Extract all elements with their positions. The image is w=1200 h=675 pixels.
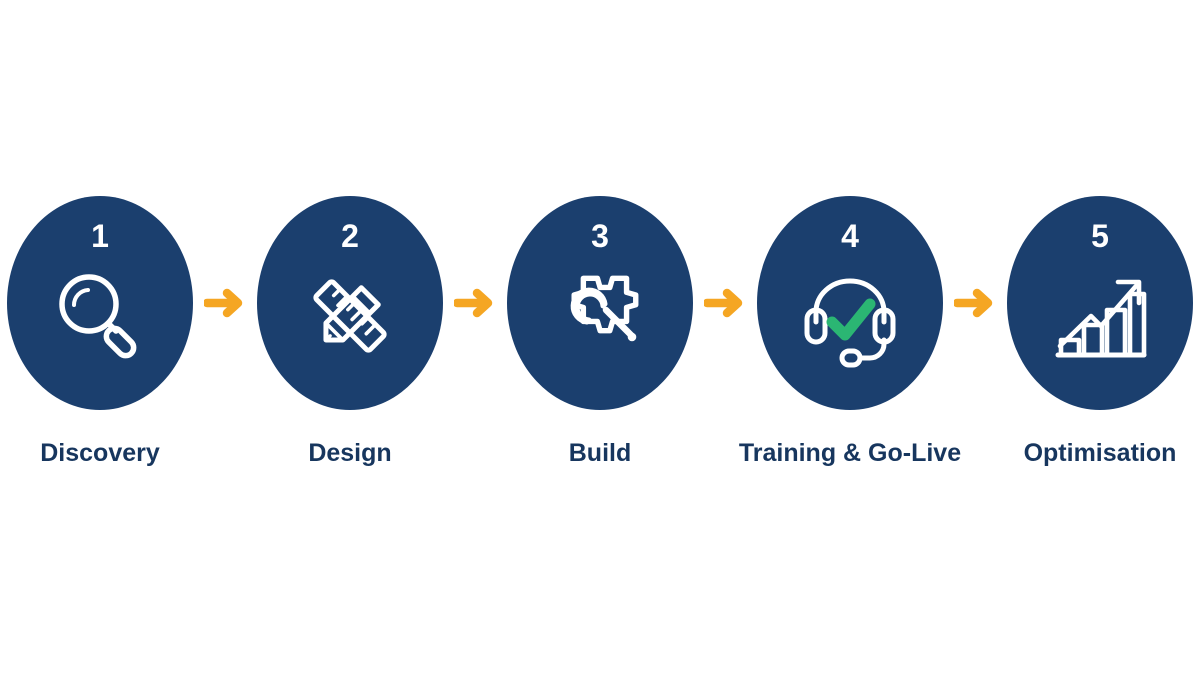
green-check-icon: [832, 304, 870, 335]
arrow-right-icon: [204, 286, 246, 320]
connector-3: [698, 196, 752, 410]
step-label-design: Design: [308, 440, 391, 466]
connector-2: [448, 196, 502, 410]
step-bubble-design[interactable]: 2: [257, 196, 443, 410]
step-bubble-optimisation[interactable]: 5: [1007, 196, 1193, 410]
headset-check-icon: [794, 260, 906, 372]
arrow-right-icon: [954, 286, 996, 320]
step-label-discovery: Discovery: [40, 440, 160, 466]
connector-4: [948, 196, 1002, 410]
step-number-1: 1: [91, 220, 109, 252]
step-label-optimisation: Optimisation: [1024, 440, 1177, 466]
magnifying-glass-icon: [44, 260, 156, 372]
step-bubble-build[interactable]: 3: [507, 196, 693, 410]
arrow-right-icon: [704, 286, 746, 320]
process-step-4[interactable]: 4: [752, 196, 948, 466]
step-number-4: 4: [841, 220, 859, 252]
gear-wrench-icon: [544, 260, 656, 372]
process-step-3[interactable]: 3 Build: [502, 196, 698, 466]
step-bubble-training-go-live[interactable]: 4: [757, 196, 943, 410]
arrow-right-icon: [454, 286, 496, 320]
process-step-2[interactable]: 2: [252, 196, 448, 466]
step-bubble-discovery[interactable]: 1: [7, 196, 193, 410]
pencil-ruler-icon: [294, 260, 406, 372]
process-step-5[interactable]: 5: [1002, 196, 1198, 466]
step-number-5: 5: [1091, 220, 1109, 252]
connector-1: [198, 196, 252, 410]
step-number-3: 3: [591, 220, 609, 252]
process-step-1[interactable]: 1 Discovery: [2, 196, 198, 466]
step-number-2: 2: [341, 220, 359, 252]
growth-bar-chart-icon: [1044, 260, 1156, 372]
step-label-build: Build: [569, 440, 632, 466]
process-flow-diagram: 1 Discovery: [0, 0, 1200, 675]
process-step-row: 1 Discovery: [0, 196, 1200, 486]
step-label-training-go-live: Training & Go-Live: [739, 440, 961, 466]
